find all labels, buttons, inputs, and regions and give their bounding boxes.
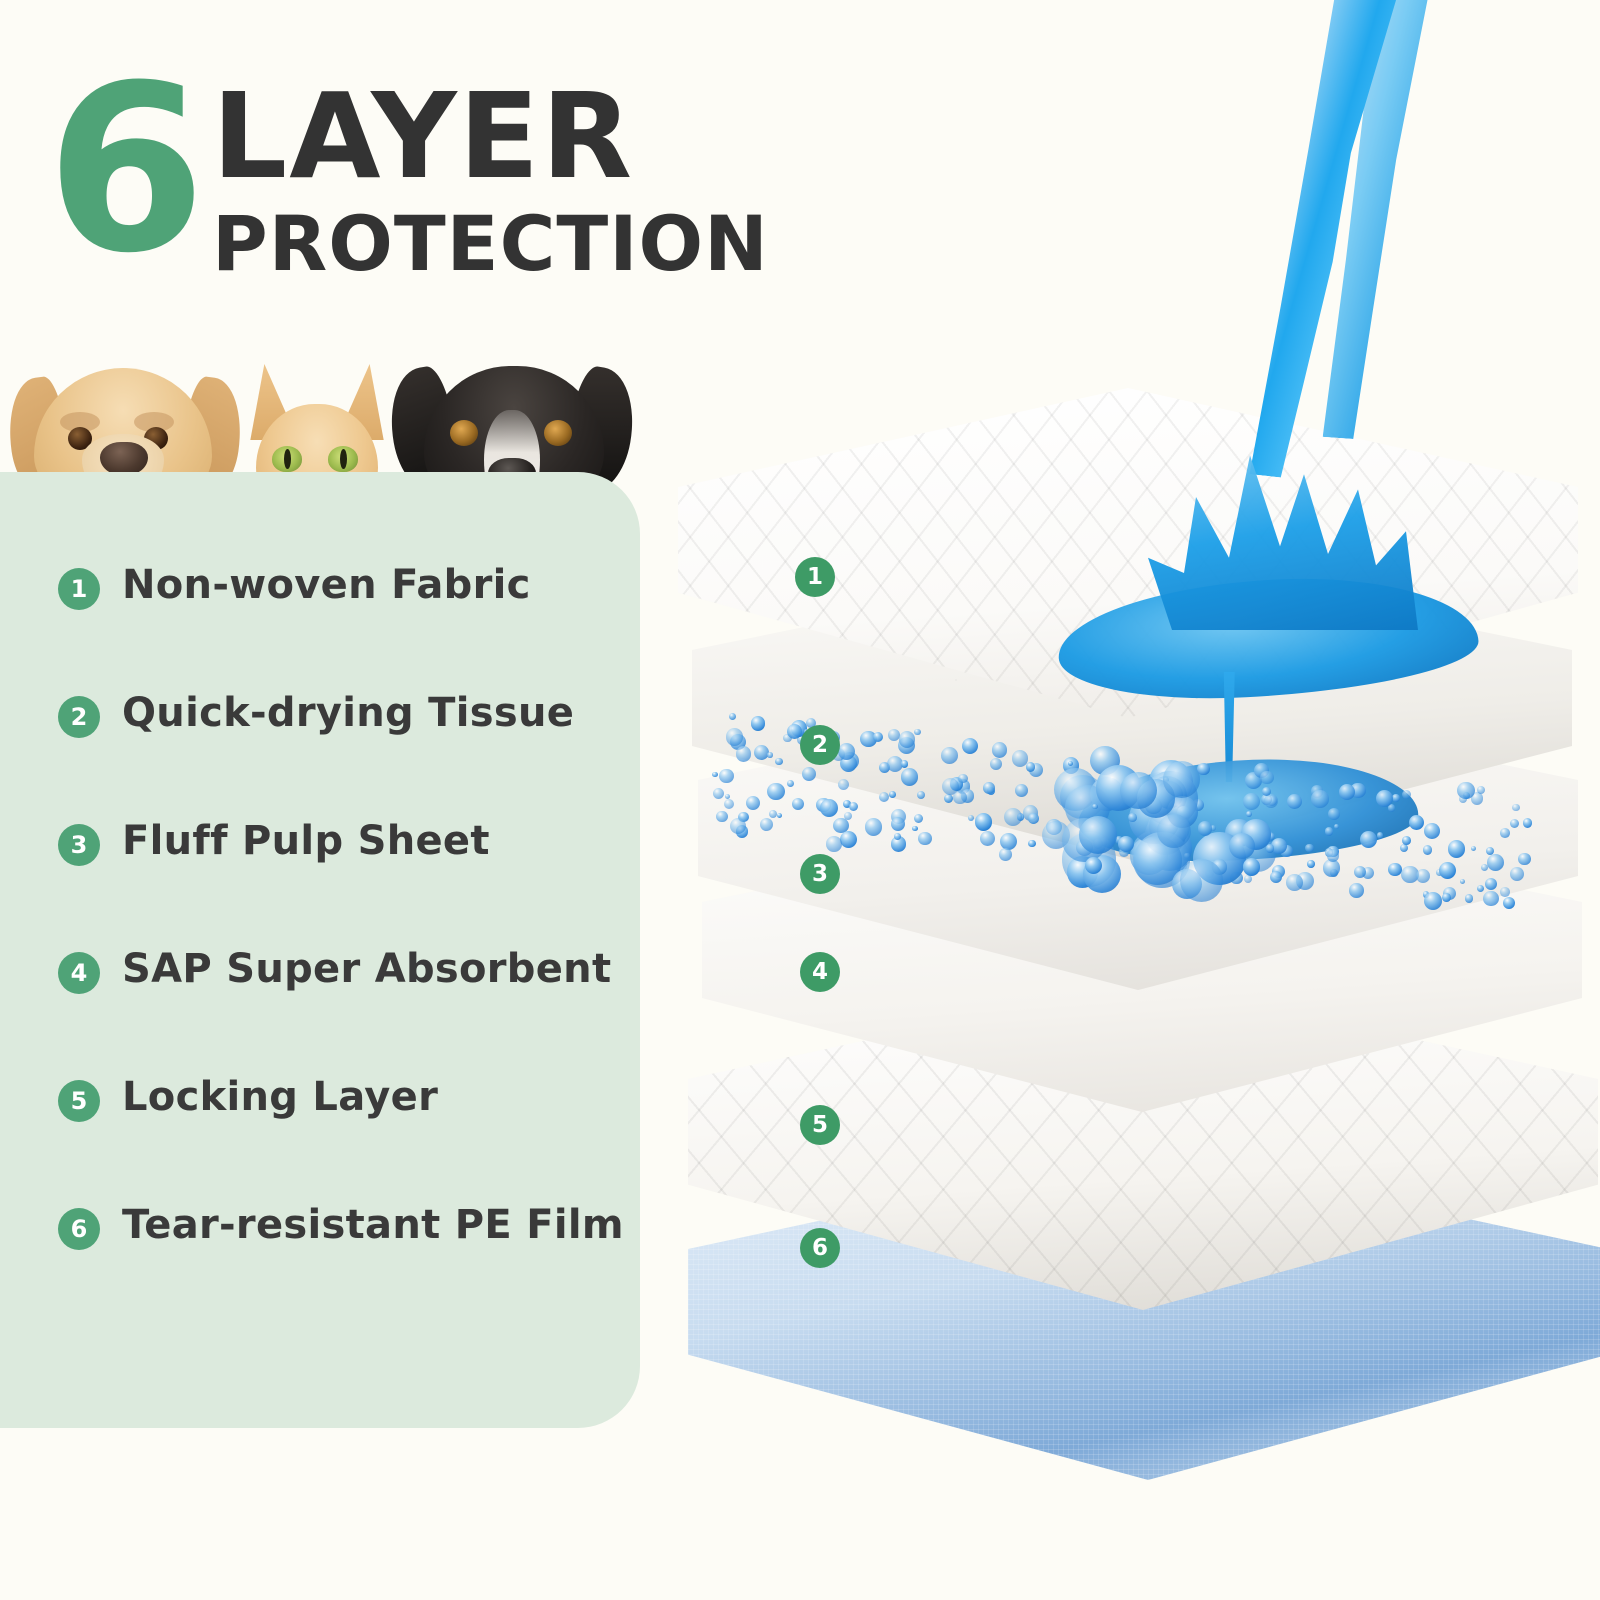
layer-list: 1 Non-woven Fabric 2 Quick-drying Tissue…	[58, 560, 638, 1328]
layer-label-3: Fluff Pulp Sheet	[122, 818, 490, 864]
pad-callout-3[interactable]: 3	[800, 854, 840, 894]
pad-callout-5[interactable]: 5	[800, 1105, 840, 1145]
layer-badge-2: 2	[58, 696, 100, 738]
title-number-six: 6	[46, 66, 202, 276]
list-item[interactable]: 6 Tear-resistant PE Film	[58, 1200, 638, 1328]
infographic-canvas: 6 LAYER PROTECTION	[0, 0, 1600, 1600]
cat-eye-right	[328, 446, 358, 472]
list-item[interactable]: 2 Quick-drying Tissue	[58, 688, 638, 816]
pad-callout-1[interactable]: 1	[795, 557, 835, 597]
cat-eye-left	[272, 446, 302, 472]
list-item[interactable]: 3 Fluff Pulp Sheet	[58, 816, 638, 944]
layer-label-5: Locking Layer	[122, 1074, 438, 1120]
layer-label-6: Tear-resistant PE Film	[122, 1202, 624, 1248]
collie-eye-right	[544, 420, 572, 446]
layer-badge-1: 1	[58, 568, 100, 610]
pad-callout-4[interactable]: 4	[800, 952, 840, 992]
layer-label-1: Non-woven Fabric	[122, 562, 531, 608]
layer-label-2: Quick-drying Tissue	[122, 690, 574, 736]
layer-badge-4: 4	[58, 952, 100, 994]
layer-badge-5: 5	[58, 1080, 100, 1122]
layer-label-4: SAP Super Absorbent	[122, 946, 611, 992]
pad-callout-2[interactable]: 2	[800, 725, 840, 765]
page-title: 6 LAYER PROTECTION	[46, 72, 726, 282]
list-item[interactable]: 5 Locking Layer	[58, 1072, 638, 1200]
layer-badge-6: 6	[58, 1208, 100, 1250]
list-item[interactable]: 4 SAP Super Absorbent	[58, 944, 638, 1072]
pad-callout-6[interactable]: 6	[800, 1228, 840, 1268]
collie-eye-left	[450, 420, 478, 446]
list-item[interactable]: 1 Non-woven Fabric	[58, 560, 638, 688]
layer-badge-3: 3	[58, 824, 100, 866]
